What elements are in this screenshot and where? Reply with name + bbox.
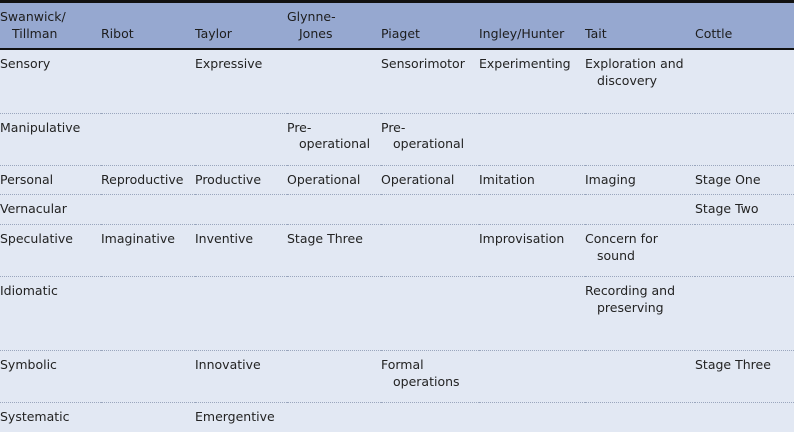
cell-text: Pre-operational bbox=[381, 120, 473, 154]
table-row: SpeculativeImaginativeInventiveStage Thr… bbox=[0, 225, 794, 277]
table-cell-piaget: Sensorimotor bbox=[381, 49, 479, 113]
column-header-label: Piaget bbox=[381, 26, 473, 43]
table-cell-piaget: Formal operations bbox=[381, 351, 479, 403]
column-header-cottle: Cottle bbox=[695, 3, 794, 49]
column-header-swanwick-tillman: Swanwick/Tillman bbox=[0, 3, 101, 49]
cell-text: Recording and preserving bbox=[585, 283, 689, 317]
cell-text: Idiomatic bbox=[0, 283, 95, 300]
table-cell-taylor: Expressive bbox=[195, 49, 287, 113]
cell-text: Pre-operational bbox=[287, 120, 375, 154]
column-header-glynne-jones: Glynne-Jones bbox=[287, 3, 381, 49]
column-header-taylor: Taylor bbox=[195, 3, 287, 49]
cell-text: Inventive bbox=[195, 231, 281, 248]
table-cell-swanwick_tillman: Speculative bbox=[0, 225, 101, 277]
cell-text: Stage Three bbox=[287, 231, 375, 248]
header-row: Swanwick/Tillman Ribot Taylor Glynne-Jon… bbox=[0, 3, 794, 49]
table-row: PersonalReproductiveProductiveOperationa… bbox=[0, 165, 794, 195]
table-cell-tait bbox=[585, 195, 695, 225]
table-cell-tait: Exploration and discovery bbox=[585, 49, 695, 113]
table-cell-tait bbox=[585, 113, 695, 165]
table-row: VernacularStage Two bbox=[0, 195, 794, 225]
table-cell-ribot bbox=[101, 403, 195, 432]
table-cell-cottle bbox=[695, 49, 794, 113]
cell-text: Sensory bbox=[0, 56, 95, 73]
table-cell-glynne_jones bbox=[287, 403, 381, 432]
cell-text: Productive bbox=[195, 172, 281, 189]
table-cell-ribot bbox=[101, 351, 195, 403]
table-row: ManipulativePre-operationalPre-operation… bbox=[0, 113, 794, 165]
table-cell-cottle: Stage One bbox=[695, 165, 794, 195]
cell-text: Vernacular bbox=[0, 201, 95, 218]
table-cell-piaget bbox=[381, 225, 479, 277]
cell-text: Formal operations bbox=[381, 357, 473, 391]
table-cell-cottle bbox=[695, 403, 794, 432]
table-cell-ribot: Imaginative bbox=[101, 225, 195, 277]
table-cell-glynne_jones bbox=[287, 351, 381, 403]
column-header-label: Tait bbox=[585, 26, 689, 43]
table-cell-ribot bbox=[101, 49, 195, 113]
table-cell-swanwick_tillman: Vernacular bbox=[0, 195, 101, 225]
table-cell-cottle bbox=[695, 113, 794, 165]
table-cell-ingley_hunter: Imitation bbox=[479, 165, 585, 195]
comparison-table-container: Swanwick/Tillman Ribot Taylor Glynne-Jon… bbox=[0, 0, 794, 420]
column-header-tait: Tait bbox=[585, 3, 695, 49]
cell-text: Emergentive bbox=[195, 409, 281, 426]
cell-text: Stage One bbox=[695, 172, 788, 189]
column-header-label: Glynne-Jones bbox=[287, 9, 375, 42]
table-cell-taylor bbox=[195, 277, 287, 351]
table-body: SensoryExpressiveSensorimotorExperimenti… bbox=[0, 49, 794, 432]
cell-text: Symbolic bbox=[0, 357, 95, 374]
cell-text: Operational bbox=[287, 172, 375, 189]
table-cell-ingley_hunter bbox=[479, 113, 585, 165]
table-cell-swanwick_tillman: Systematic bbox=[0, 403, 101, 432]
table-cell-glynne_jones: Stage Three bbox=[287, 225, 381, 277]
table-cell-cottle bbox=[695, 277, 794, 351]
table-cell-swanwick_tillman: Manipulative bbox=[0, 113, 101, 165]
table-row: SystematicEmergentive bbox=[0, 403, 794, 432]
cell-text: Experimenting bbox=[479, 56, 579, 73]
table-cell-taylor: Innovative bbox=[195, 351, 287, 403]
table-cell-ribot bbox=[101, 277, 195, 351]
table-cell-tait bbox=[585, 351, 695, 403]
table-cell-glynne_jones bbox=[287, 277, 381, 351]
table-cell-tait: Recording and preserving bbox=[585, 277, 695, 351]
cell-text: Expressive bbox=[195, 56, 281, 73]
cell-text: Operational bbox=[381, 172, 473, 189]
table-cell-ingley_hunter: Experimenting bbox=[479, 49, 585, 113]
table-cell-ribot bbox=[101, 113, 195, 165]
table-cell-ingley_hunter: Improvisation bbox=[479, 225, 585, 277]
cell-text: Concern for sound bbox=[585, 231, 689, 265]
table-cell-cottle bbox=[695, 225, 794, 277]
table-cell-ingley_hunter bbox=[479, 277, 585, 351]
table-cell-taylor bbox=[195, 113, 287, 165]
table-cell-swanwick_tillman: Personal bbox=[0, 165, 101, 195]
column-header-piaget: Piaget bbox=[381, 3, 479, 49]
table-cell-piaget bbox=[381, 277, 479, 351]
table-cell-taylor: Productive bbox=[195, 165, 287, 195]
column-header-label: Taylor bbox=[195, 26, 281, 43]
cell-text: Speculative bbox=[0, 231, 95, 248]
table-cell-ingley_hunter bbox=[479, 403, 585, 432]
table-cell-ingley_hunter bbox=[479, 195, 585, 225]
table-cell-tait: Imaging bbox=[585, 165, 695, 195]
table-cell-tait: Concern for sound bbox=[585, 225, 695, 277]
table-cell-ribot: Reproductive bbox=[101, 165, 195, 195]
table-cell-cottle: Stage Three bbox=[695, 351, 794, 403]
table-cell-swanwick_tillman: Sensory bbox=[0, 49, 101, 113]
table-cell-glynne_jones: Pre-operational bbox=[287, 113, 381, 165]
table-cell-swanwick_tillman: Symbolic bbox=[0, 351, 101, 403]
column-header-label: Cottle bbox=[695, 26, 788, 43]
table-cell-taylor: Inventive bbox=[195, 225, 287, 277]
column-header-label: Ingley/Hunter bbox=[479, 26, 579, 43]
table-cell-tait bbox=[585, 403, 695, 432]
cell-text: Systematic bbox=[0, 409, 95, 426]
cell-text: Reproductive bbox=[101, 172, 189, 189]
table-cell-glynne_jones: Operational bbox=[287, 165, 381, 195]
table-row: IdiomaticRecording and preserving bbox=[0, 277, 794, 351]
column-header-label: Ribot bbox=[101, 26, 189, 43]
table-cell-glynne_jones bbox=[287, 195, 381, 225]
cell-text: Imaging bbox=[585, 172, 689, 189]
table-header: Swanwick/Tillman Ribot Taylor Glynne-Jon… bbox=[0, 3, 794, 49]
cell-text: Personal bbox=[0, 172, 95, 189]
developmental-stages-table: Swanwick/Tillman Ribot Taylor Glynne-Jon… bbox=[0, 3, 794, 432]
table-cell-cottle: Stage Two bbox=[695, 195, 794, 225]
table-cell-swanwick_tillman: Idiomatic bbox=[0, 277, 101, 351]
cell-text: Imaginative bbox=[101, 231, 189, 248]
cell-text: Manipulative bbox=[0, 120, 95, 137]
table-cell-ribot bbox=[101, 195, 195, 225]
table-cell-taylor: Emergentive bbox=[195, 403, 287, 432]
table-cell-piaget: Pre-operational bbox=[381, 113, 479, 165]
table-cell-glynne_jones bbox=[287, 49, 381, 113]
table-cell-piaget bbox=[381, 195, 479, 225]
cell-text: Sensorimotor bbox=[381, 56, 473, 73]
cell-text: Imitation bbox=[479, 172, 579, 189]
cell-text: Innovative bbox=[195, 357, 281, 374]
column-header-ribot: Ribot bbox=[101, 3, 195, 49]
cell-text: Exploration and discovery bbox=[585, 56, 689, 90]
table-row: SensoryExpressiveSensorimotorExperimenti… bbox=[0, 49, 794, 113]
table-cell-piaget: Operational bbox=[381, 165, 479, 195]
cell-text: Improvisation bbox=[479, 231, 579, 248]
column-header-ingley-hunter: Ingley/Hunter bbox=[479, 3, 585, 49]
table-row: SymbolicInnovativeFormal operationsStage… bbox=[0, 351, 794, 403]
table-cell-piaget bbox=[381, 403, 479, 432]
cell-text: Stage Two bbox=[695, 201, 788, 218]
column-header-label: Swanwick/Tillman bbox=[0, 9, 95, 42]
table-cell-ingley_hunter bbox=[479, 351, 585, 403]
table-cell-taylor bbox=[195, 195, 287, 225]
cell-text: Stage Three bbox=[695, 357, 788, 374]
